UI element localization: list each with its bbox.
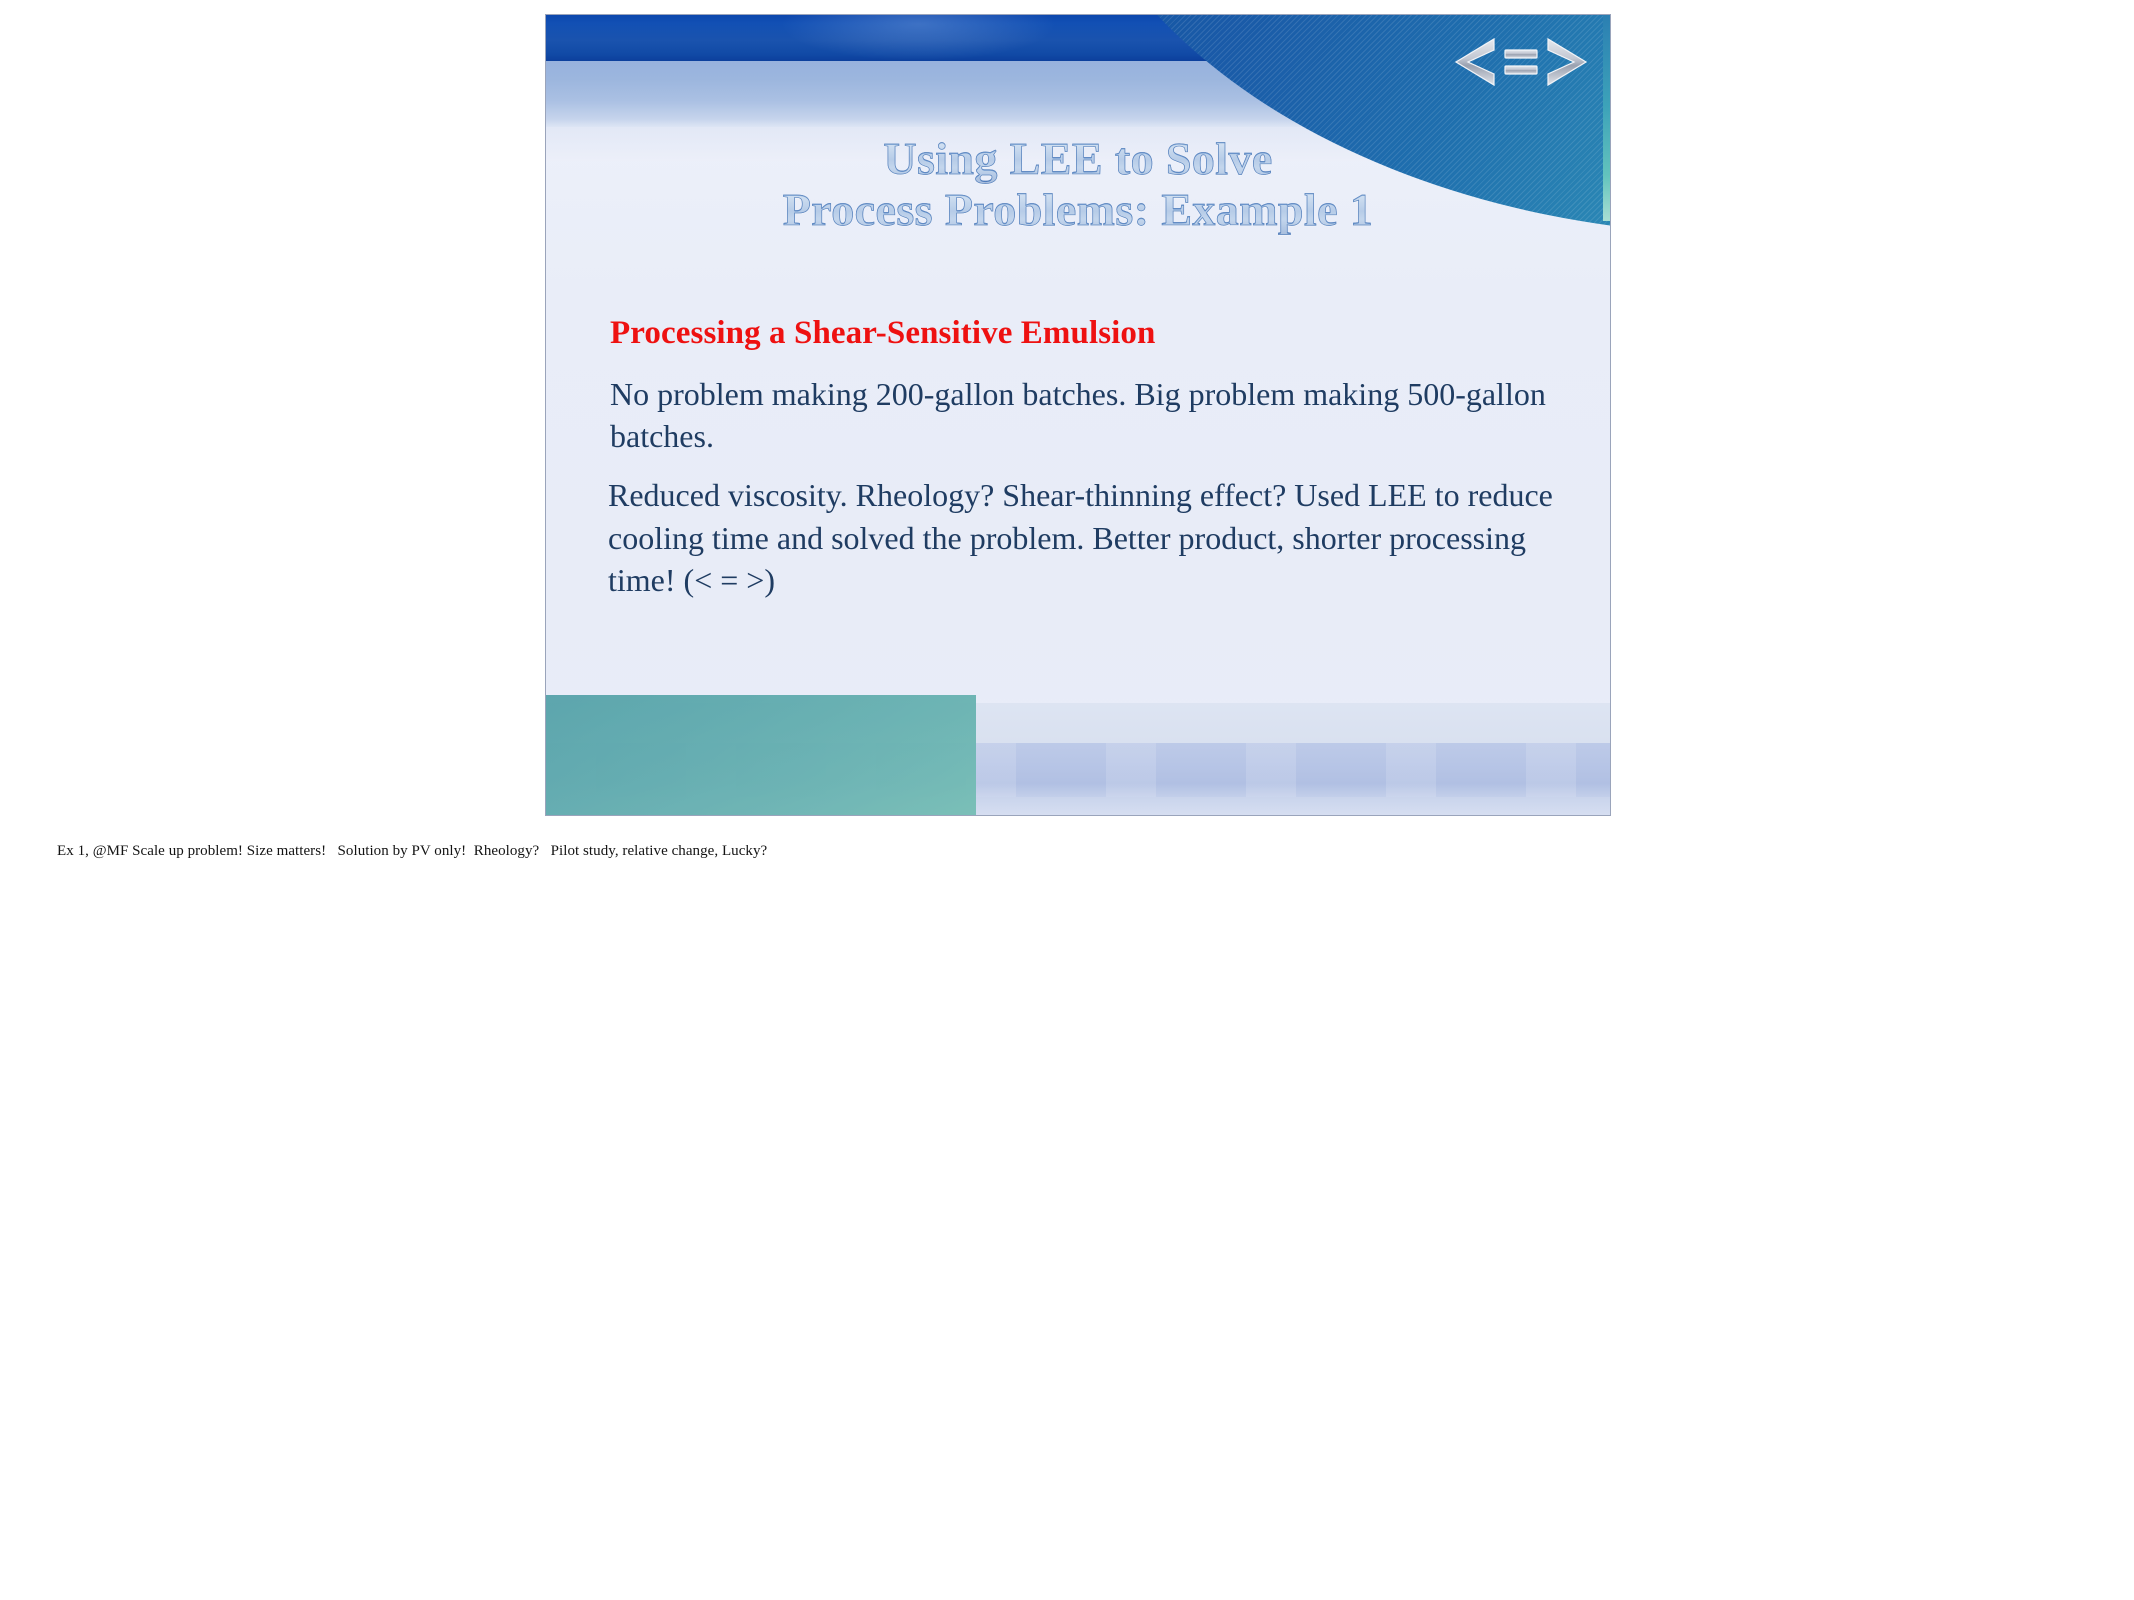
equals-icon [1503, 37, 1539, 87]
slide-notes-footnote: Ex 1, @MF Scale up problem! Size matters… [57, 843, 767, 860]
bottom-left-wedge-highlight [546, 695, 976, 815]
slide-title: Using LEE to Solve Process Problems: Exa… [546, 133, 1610, 236]
less-equal-greater-logo [1454, 37, 1588, 87]
bottom-left-wedge [546, 695, 976, 815]
body-heading: Processing a Shear-Sensitive Emulsion [610, 315, 1590, 353]
title-line-2: Process Problems: Example 1 [546, 184, 1610, 235]
presentation-slide: Using LEE to Solve Process Problems: Exa… [545, 14, 1611, 816]
body-paragraph-2: Reduced viscosity. Rheology? Shear-thinn… [608, 474, 1590, 602]
body-paragraph-1: No problem making 200-gallon batches. Bi… [610, 373, 1590, 458]
right-chevron-icon [1546, 37, 1588, 87]
slide-body: Processing a Shear-Sensitive Emulsion No… [610, 315, 1590, 618]
title-line-1: Using LEE to Solve [546, 133, 1610, 184]
left-chevron-icon [1454, 37, 1496, 87]
